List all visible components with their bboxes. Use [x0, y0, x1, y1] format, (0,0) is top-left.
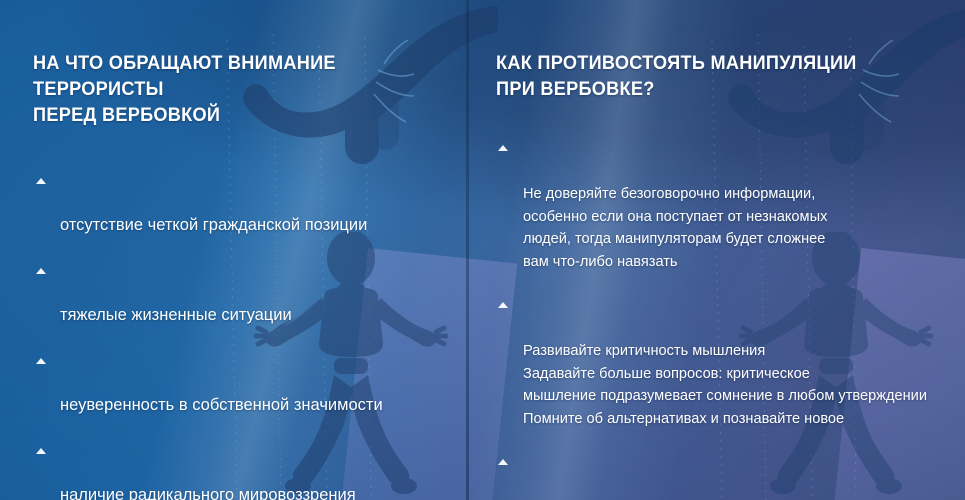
list-item: Не доверяйте безоговорочно информации, о… [496, 138, 943, 273]
list-item-text: Не доверяйте безоговорочно информации, о… [523, 186, 827, 270]
right-panel: КАК ПРОТИВОСТОЯТЬ МАНИПУЛЯЦИИ ПРИ ВЕРБОВ… [466, 0, 965, 500]
triangle-up-icon [36, 178, 46, 184]
list-item: тяжелые жизненные ситуации [33, 260, 442, 326]
list-item-text: Развивайте критичность мышления Задавайт… [523, 343, 927, 427]
list-item-text: тяжелые жизненные ситуации [60, 306, 292, 324]
list-item: отсутствие четкой гражданской позиции [33, 170, 442, 236]
triangle-up-icon [498, 459, 508, 465]
infographic-slide: НА ЧТО ОБРАЩАЮТ ВНИМАНИЕ ТЕРРОРИСТЫ ПЕРЕ… [0, 0, 965, 500]
panels-container: НА ЧТО ОБРАЩАЮТ ВНИМАНИЕ ТЕРРОРИСТЫ ПЕРЕ… [0, 0, 965, 500]
list-item: наличие радикального мировоззрения [33, 440, 442, 500]
list-item-text: неуверенность в собственной значимости [60, 396, 383, 414]
list-item: Развивайте критичность мышления Задавайт… [496, 295, 943, 430]
list-item: неуверенность в собственной значимости [33, 350, 442, 416]
right-panel-title: КАК ПРОТИВОСТОЯТЬ МАНИПУЛЯЦИИ ПРИ ВЕРБОВ… [496, 50, 912, 102]
left-panel-bullet-list: отсутствие четкой гражданской позиции тя… [33, 170, 442, 500]
triangle-up-icon [36, 358, 46, 364]
list-item-text: отсутствие четкой гражданской позиции [60, 216, 367, 234]
list-item-text: наличие радикального мировоззрения [60, 486, 356, 500]
triangle-up-icon [498, 302, 508, 308]
triangle-up-icon [36, 268, 46, 274]
triangle-up-icon [36, 448, 46, 454]
left-panel: НА ЧТО ОБРАЩАЮТ ВНИМАНИЕ ТЕРРОРИСТЫ ПЕРЕ… [0, 0, 466, 500]
triangle-up-icon [498, 145, 508, 151]
list-item: Развивайте уверенность в себе, ставьте с… [496, 452, 943, 500]
right-panel-bullet-list: Не доверяйте безоговорочно информации, о… [496, 138, 943, 500]
left-panel-title: НА ЧТО ОБРАЩАЮТ ВНИМАНИЕ ТЕРРОРИСТЫ ПЕРЕ… [33, 50, 413, 128]
